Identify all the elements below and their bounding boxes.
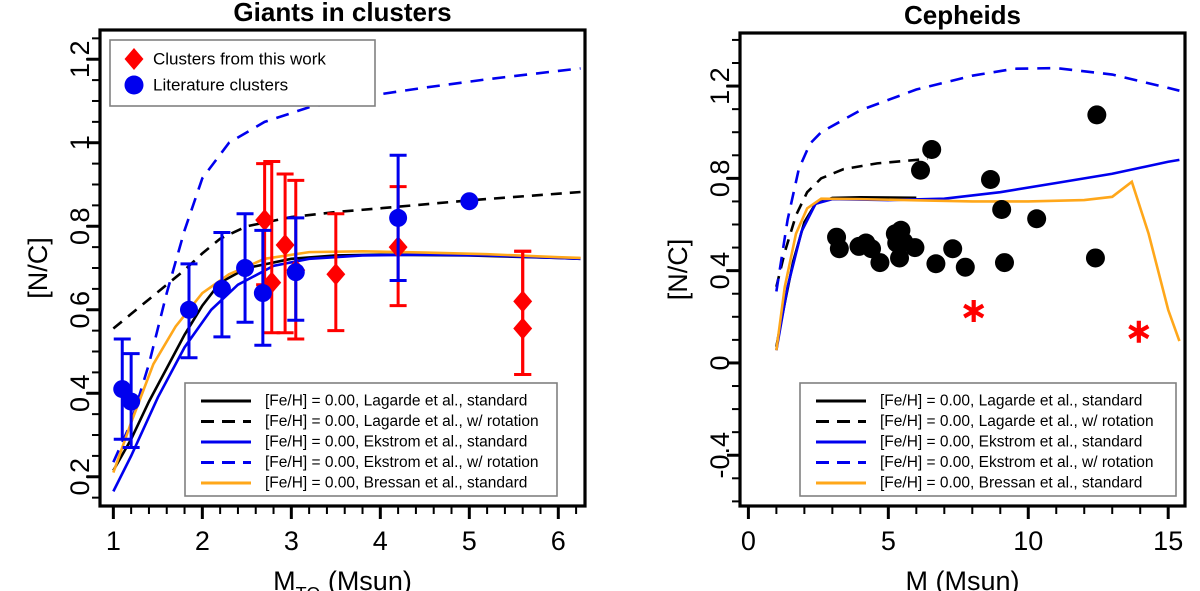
model-curve-cepheids xyxy=(776,197,916,347)
data-point-circle xyxy=(254,284,272,302)
data-point-circle xyxy=(922,140,941,159)
x-axis-title-cepheids: M (Msun) xyxy=(905,566,1019,591)
data-point-asterisk xyxy=(964,300,983,322)
data-point-circle xyxy=(1087,105,1106,124)
model-legend-label: [Fe/H] = 0.00, Ekstrom et al., standard xyxy=(880,434,1142,451)
data-point-circle xyxy=(389,209,407,227)
marker-legend-circle xyxy=(125,76,144,95)
model-legend-label: [Fe/H] = 0.00, Lagarde et al., w/ rotati… xyxy=(265,413,539,430)
x-tick-label-giants: 6 xyxy=(551,526,566,556)
data-point-circle xyxy=(236,259,254,277)
model-legend-label: [Fe/H] = 0.00, Ekstrom et al., w/ rotati… xyxy=(880,454,1154,471)
x-tick-label-giants: 2 xyxy=(195,526,210,556)
y-tick-label-cepheids: -0.4 xyxy=(705,432,735,479)
model-legend-label: [Fe/H] = 0.00, Lagarde et al., w/ rotati… xyxy=(880,413,1154,430)
y-tick-label-cepheids: 1.2 xyxy=(705,67,735,105)
data-point-diamond xyxy=(326,263,345,285)
x-tick-label-giants: 3 xyxy=(284,526,299,556)
data-point-circle xyxy=(956,258,975,277)
data-point-circle xyxy=(926,254,945,273)
x-tick-label-cepheids: 0 xyxy=(741,526,756,556)
x-tick-label-giants: 5 xyxy=(462,526,477,556)
panel-title-giants: Giants in clusters xyxy=(233,0,451,27)
model-curve-cepheids xyxy=(776,68,1179,291)
data-point-circle xyxy=(180,301,198,319)
y-tick-label-giants: 1 xyxy=(65,135,95,150)
data-point-circle xyxy=(905,238,924,257)
data-point-circle xyxy=(890,248,909,267)
data-point-diamond xyxy=(513,318,532,340)
data-point-circle xyxy=(1086,248,1105,267)
y-tick-label-giants: 0.2 xyxy=(65,458,95,496)
y-tick-label-cepheids: 0 xyxy=(705,355,735,370)
y-tick-label-giants: 0.4 xyxy=(65,374,95,412)
figure-canvas: MTO (Msun)Giants in clusters1234560.20.4… xyxy=(0,0,1200,591)
model-legend-label: [Fe/H] = 0.00, Lagarde et al., standard xyxy=(265,393,527,410)
model-legend-label: [Fe/H] = 0.00, Ekstrom et al., w/ rotati… xyxy=(265,454,539,471)
series-circle xyxy=(827,105,1106,276)
x-axis-title-giants: MTO (Msun) xyxy=(273,566,412,591)
x-tick-label-cepheids: 15 xyxy=(1153,526,1183,556)
y-tick-label-giants: 1.2 xyxy=(65,40,95,78)
x-tick-label-giants: 4 xyxy=(373,526,388,556)
y-axis-title-cepheids: [N/C] xyxy=(663,239,693,301)
series-asterisk xyxy=(964,300,1148,343)
data-point-asterisk xyxy=(1129,321,1148,343)
data-point-circle xyxy=(995,253,1014,272)
data-point-circle xyxy=(213,280,231,298)
model-curve-cepheids xyxy=(776,182,1179,350)
x-tick-label-giants: 1 xyxy=(106,526,121,556)
data-point-circle xyxy=(981,170,1000,189)
panel-title-cepheids: Cepheids xyxy=(904,0,1021,30)
marker-legend-label: Literature clusters xyxy=(153,76,288,95)
y-tick-label-giants: 0.6 xyxy=(65,291,95,329)
data-point-circle xyxy=(122,393,140,411)
model-legend-label: [Fe/H] = 0.00, Bressan et al., standard xyxy=(880,475,1142,492)
data-point-diamond xyxy=(276,234,295,256)
error-bar xyxy=(514,251,531,374)
figure-root: MTO (Msun)Giants in clusters1234560.20.4… xyxy=(0,0,1200,591)
marker-legend-label: Clusters from this work xyxy=(153,50,326,69)
model-legend-label: [Fe/H] = 0.00, Ekstrom et al., standard xyxy=(265,434,527,451)
model-legend-label: [Fe/H] = 0.00, Bressan et al., standard xyxy=(265,475,527,492)
data-point-circle xyxy=(943,239,962,258)
model-legend-giants: [Fe/H] = 0.00, Lagarde et al., standard[… xyxy=(185,383,557,496)
data-point-circle xyxy=(992,200,1011,219)
data-point-circle xyxy=(287,263,305,281)
data-point-circle xyxy=(830,239,849,258)
model-legend-label: [Fe/H] = 0.00, Lagarde et al., standard xyxy=(880,393,1142,410)
marker-legend: Clusters from this workLiterature cluste… xyxy=(110,40,375,106)
x-tick-label-cepheids: 5 xyxy=(881,526,896,556)
y-axis-title-giants: [N/C] xyxy=(23,237,53,299)
data-point-circle xyxy=(911,161,930,180)
y-tick-label-giants: 0.8 xyxy=(65,207,95,245)
data-point-circle xyxy=(1027,209,1046,228)
y-tick-label-cepheids: 0.4 xyxy=(705,252,735,290)
model-legend-cepheids: [Fe/H] = 0.00, Lagarde et al., standard[… xyxy=(800,383,1176,496)
y-tick-label-cepheids: 0.8 xyxy=(705,160,735,198)
data-point-circle xyxy=(870,253,889,272)
data-point-circle xyxy=(460,192,478,210)
panel-cepheids: M (Msun) xyxy=(727,33,1185,591)
x-tick-label-cepheids: 10 xyxy=(1013,526,1043,556)
